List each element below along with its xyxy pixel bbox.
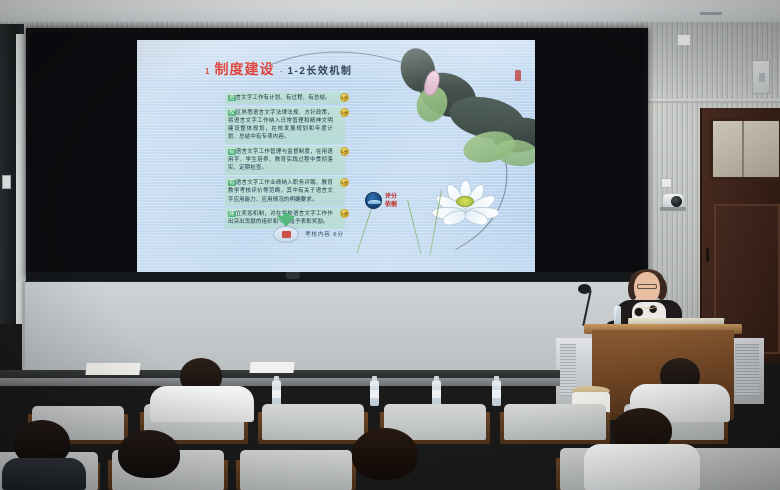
- bullet-score-badge: 1分: [340, 147, 349, 156]
- bullet-lead-char: 校: [228, 110, 236, 116]
- water-bottle: [272, 380, 281, 406]
- attendee-body: [150, 386, 254, 422]
- slide-title-number: 1: [205, 67, 209, 76]
- attendee-head: [352, 428, 418, 480]
- slide-title-separator: ·: [279, 66, 282, 76]
- attendee-body: [584, 444, 700, 490]
- bullet-text: 语言文字工作管理与监督制度，在用语用字、学生培养、教育实践过程中贯彻落实、定期检…: [228, 149, 333, 171]
- presentation-slide: 1 制度建设 · 1-2长效机制 语言文字工作有计划、有过程、有总结。 1分 校…: [137, 40, 535, 272]
- bullet-text: 语言文字工作业绩纳入职务评聘、教育教学考核评价等范畴，其中有关于语言文字应用能力…: [228, 180, 333, 202]
- whiteboard-edge: [22, 281, 25, 377]
- wall-socket-icon: [2, 175, 11, 189]
- door-glass-mullion: [742, 121, 744, 177]
- room-scene: 1 制度建设 · 1-2长效机制 语言文字工作有计划、有过程、有总结。 1分 校…: [0, 0, 780, 490]
- light-switch-icon[interactable]: [661, 178, 672, 188]
- bullet-lead-char: 有: [228, 149, 236, 155]
- slide-title: 1 制度建设 · 1-2长效机制: [205, 59, 352, 79]
- wall-rail: [645, 99, 780, 103]
- projector-sensor-icon: [286, 272, 300, 279]
- bullet-box: 校区熟悉语言文字法律法规、方针政策，将语言文字工作纳入日常管理和精神文明建设整体…: [225, 107, 345, 144]
- slide-bullet-list: 语言文字工作有计划、有过程、有总结。 1分 校区熟悉语言文字法律法规、方针政策，…: [225, 92, 345, 231]
- bullet-score-badge: 2分: [340, 108, 349, 117]
- water-bottle: [370, 380, 379, 406]
- necklace-icon: [640, 300, 658, 309]
- scoring-basis-badge: 评分 依据: [365, 192, 397, 209]
- wall-camera-icon: [660, 192, 686, 214]
- water-bottle: [492, 380, 501, 406]
- bullet-box: 有语言文字工作管理与监督制度，在用语用字、学生培养、教育实践过程中贯彻落实、定期…: [225, 146, 345, 175]
- bullet-score-badge: 1分: [340, 93, 349, 102]
- water-bottle-podium: [614, 306, 621, 326]
- door-handle-icon[interactable]: [706, 248, 709, 262]
- slide-title-subtitle: 1-2长效机制: [287, 62, 352, 77]
- wall-notice-plate: [677, 34, 691, 46]
- rack-vent-right: [735, 344, 759, 396]
- slide-score-summary: 考核内容 6分: [305, 230, 344, 238]
- bullet-lead-char: 语: [228, 95, 236, 101]
- handout-paper: [249, 362, 294, 373]
- basis-logo-icon: [365, 192, 382, 209]
- bullet-text: 区熟悉语言文字法律法规、方针政策，将语言文字工作纳入日常管理和精神文明建设整体规…: [228, 110, 333, 141]
- seat[interactable]: [240, 450, 352, 490]
- seat[interactable]: [262, 404, 364, 440]
- bullet-lead-char: 建: [228, 211, 236, 217]
- water-bottle: [432, 380, 441, 406]
- basis-label: 评分 依据: [385, 193, 397, 208]
- seat[interactable]: [688, 448, 780, 490]
- attendee-body: [2, 458, 86, 490]
- glasses-icon: [637, 284, 657, 289]
- ceiling-vent-icon: [700, 12, 722, 15]
- bullet-text: 言文字工作有计划、有过程、有总结。: [236, 95, 331, 101]
- slide-title-main: 制度建设: [214, 59, 274, 79]
- bullet-box: 语言文字工作有计划、有过程、有总结。 1分: [225, 92, 345, 104]
- lotus-and-rock-painting: [345, 40, 535, 272]
- attendee-head: [118, 430, 180, 478]
- bullet-box: 将语言文字工作业绩纳入职务评聘、教育教学考核评价等范畴，其中有关于语言文字应用能…: [225, 177, 345, 206]
- seal-stamp-icon: [515, 70, 521, 81]
- score-chip-icon: [273, 226, 299, 243]
- door-glass-panel: [710, 118, 780, 180]
- lotus-flower-icon: [423, 158, 507, 220]
- seat[interactable]: [504, 404, 606, 440]
- microphone-icon: [578, 284, 591, 294]
- bullet-lead-char: 将: [228, 180, 236, 186]
- wall-control-panel[interactable]: [752, 60, 770, 94]
- handout-paper: [85, 363, 140, 375]
